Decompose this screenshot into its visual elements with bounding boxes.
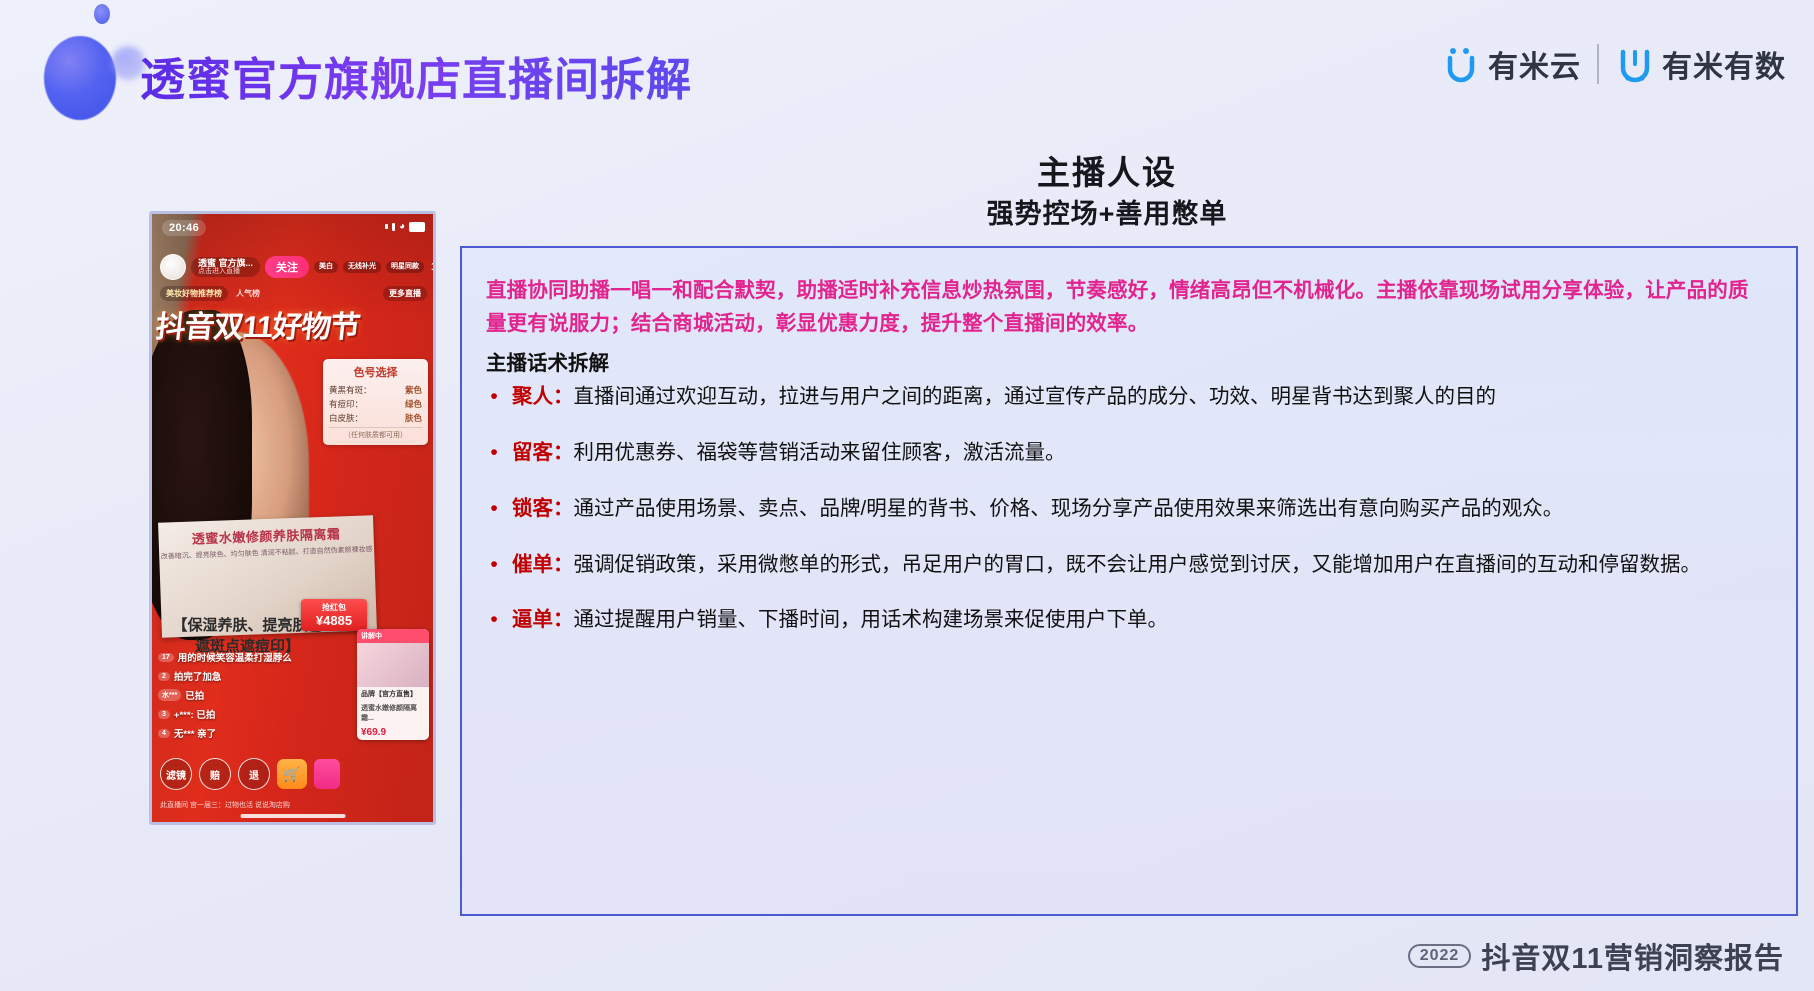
battery-icon <box>409 222 425 232</box>
brand-separator <box>1597 44 1599 84</box>
avatar[interactable] <box>160 254 186 280</box>
youmi-data-icon <box>1615 44 1655 84</box>
bullet-marker-icon: • <box>486 605 502 635</box>
rank-row: 美妆好物推荐榜 人气榜 更多直播 <box>160 286 427 301</box>
list-item: • 留客：利用优惠券、福袋等营销活动来留住顾客，激活流量。 <box>486 438 1766 469</box>
section-title: 主播人设 <box>0 146 1814 194</box>
color-card-label: 白皮肤： <box>329 412 363 424</box>
anchor-name: 透蜜 官方旗... <box>198 259 253 268</box>
brand-name-youmi-data: 有米有数 <box>1662 42 1786 86</box>
content-panel: 直播协同助播一唱一和配合默契，助播适时补充信息炒热氛围，节奏感好，情绪高昂但不机… <box>460 246 1798 916</box>
bullet-colon: ： <box>553 553 574 576</box>
coupon-label: 抢红包 <box>303 602 365 613</box>
brand-youmi-data: 有米有数 <box>1615 42 1786 86</box>
color-card-value: 紫色 <box>405 384 422 396</box>
footer-report-title: 抖音双11营销洞察报告 <box>1481 935 1784 977</box>
bullet-list: • 聚人：直播间通过欢迎互动，拉进与用户之间的距离，通过宣传产品的成分、功效、明… <box>486 382 1766 636</box>
anchor-subtitle: 点击进入直播 <box>198 268 253 275</box>
chat-tag: 水*** <box>158 689 181 701</box>
bullet-colon: ： <box>553 497 574 520</box>
stat-chip-2[interactable]: 明星同款 <box>386 261 424 272</box>
bullet-content: 聚人：直播间通过欢迎互动，拉进与用户之间的距离，通过宣传产品的成分、功效、明星背… <box>512 382 1496 413</box>
bullet-content: 逼单：通过提醒用户销量、下播时间，用话术构建场景来促使用户下单。 <box>512 605 1168 636</box>
chat-message: 4 无*** 亲了 <box>158 726 328 740</box>
bullet-keyword: 催单 <box>512 553 553 576</box>
youmi-cloud-icon <box>1441 44 1481 84</box>
list-item: • 催单：强调促销政策，采用微憋单的形式，吊足用户的胃口，既不会让用户感觉到讨厌… <box>486 550 1766 581</box>
product-card[interactable]: 讲解中 品牌【官方直售】 透蜜水嫩修颜隔离霜... ¥69.9 <box>357 629 429 740</box>
beauty-filter-button[interactable]: 滤镜 <box>160 758 192 790</box>
product-name: 透蜜水嫩修颜隔离霜... <box>357 701 429 725</box>
wifi-icon: ◕ <box>399 221 405 232</box>
live-bottom-bar: 滤镜 赔 退 🛒 <box>152 748 433 800</box>
stat-chip-1[interactable]: 无线补光 <box>343 261 381 272</box>
bullet-keyword: 留客 <box>512 441 553 464</box>
viewer-count: 120 <box>431 261 436 273</box>
bullet-content: 锁客：通过产品使用场景、卖点、品牌/明星的背书、价格、现场分享产品使用效果来筛选… <box>512 494 1563 525</box>
signal-icon <box>392 223 395 231</box>
coupon-badge[interactable]: 抢红包 ¥4885 <box>301 599 367 631</box>
decorative-blob-small <box>94 4 110 24</box>
bullet-text: 通过提醒用户销量、下播时间，用话术构建场景来促使用户下单。 <box>574 608 1169 631</box>
product-tag: 讲解中 <box>357 629 429 643</box>
bullet-keyword: 逼单 <box>512 608 553 631</box>
home-indicator <box>240 814 345 818</box>
compensation-button[interactable]: 赔 <box>199 758 231 790</box>
bullet-colon: ： <box>553 608 574 631</box>
chat-text: 用的时候笑容温柔打湿脖么 <box>178 650 292 664</box>
anchor-info[interactable]: 透蜜 官方旗... 点击进入直播 <box>191 257 260 278</box>
chat-tag: 17 <box>158 653 174 662</box>
product-brand: 品牌【官方直售】 <box>357 687 429 701</box>
footer-branding: 2022 抖音双11营销洞察报告 <box>1408 935 1784 977</box>
gift-button[interactable] <box>314 759 340 789</box>
poster-title: 透蜜水嫩修颜养肤隔离霜 <box>158 522 374 548</box>
more-live-button[interactable]: 更多直播 <box>383 286 427 301</box>
brand-youmi-cloud: 有米云 <box>1441 42 1581 86</box>
product-price: ¥69.9 <box>357 725 429 740</box>
chat-text: 已拍 <box>185 688 204 702</box>
bullet-keyword: 锁客 <box>512 497 553 520</box>
color-card-title: 色号选择 <box>329 364 422 380</box>
poster-lines: 改善暗沉、提亮肤色、均匀肤色 清润不粘腻、打造自然伪素颜裸妆感 <box>159 545 374 563</box>
popularity-badge[interactable]: 人气榜 <box>236 288 260 299</box>
intro-paragraph: 直播协同助播一唱一和配合默契，助播适时补充信息炒热氛围，节奏感好，情绪高昂但不机… <box>486 274 1766 340</box>
signal-icon <box>385 224 388 229</box>
status-icons: ◕ <box>385 221 425 232</box>
color-card-footnote: （任何肤质都可用） <box>329 427 422 440</box>
color-card-label: 有痘印： <box>329 398 363 410</box>
chat-message: 2 拍完了加急 <box>158 669 328 683</box>
stat-chip-0[interactable]: 美白 <box>314 261 338 272</box>
shopping-cart-icon[interactable]: 🛒 <box>277 759 307 789</box>
chat-message: 17 用的时候笑容温柔打湿脖么 <box>158 650 328 664</box>
footer-year: 2022 <box>1408 944 1472 968</box>
chat-text: 拍完了加急 <box>174 669 222 683</box>
bottom-note: 此直播间 官一届三：过物也活 说说淘店购 <box>160 800 290 810</box>
rank-badge[interactable]: 美妆好物推荐榜 <box>160 286 228 301</box>
chat-message: 3 +***: 已拍 <box>158 707 328 721</box>
color-card-label: 黄黑有斑： <box>329 384 372 396</box>
anchor-header-row: 透蜜 官方旗... 点击进入直播 关注 美白 无线补光 明星同款 120 ✕ <box>160 254 427 280</box>
chat-feed: 17 用的时候笑容温柔打湿脖么 2 拍完了加急 水*** 已拍 3 +***: … <box>158 645 328 740</box>
status-time: 20:46 <box>162 220 206 236</box>
bullet-marker-icon: • <box>486 550 502 580</box>
chat-message: 水*** 已拍 <box>158 688 328 702</box>
bullet-keyword: 聚人 <box>512 385 553 408</box>
chat-tag: 4 <box>158 729 170 738</box>
chat-text: +***: 已拍 <box>174 707 215 721</box>
bullet-text: 直播间通过欢迎互动，拉进与用户之间的距离，通过宣传产品的成分、功效、明星背书达到… <box>574 385 1497 408</box>
refund-button[interactable]: 退 <box>238 758 270 790</box>
follow-button[interactable]: 关注 <box>265 256 309 278</box>
bullet-marker-icon: • <box>486 438 502 468</box>
bullet-colon: ： <box>553 385 574 408</box>
bullet-colon: ： <box>553 441 574 464</box>
slide-root: 透蜜官方旗舰店直播间拆解 有米云 有米有数 主播人设 强势控场+善用憋单 <box>0 0 1814 991</box>
live-stream-screenshot: 20:46 ◕ 透蜜 官方旗... 点击进入直播 关注 美白 无线补光 明星同款… <box>149 211 436 825</box>
bullet-content: 留客：利用优惠券、福袋等营销活动来留住顾客，激活流量。 <box>512 438 1066 469</box>
bullet-text: 强调促销政策，采用微憋单的形式，吊足用户的胃口，既不会让用户感觉到讨厌，又能增加… <box>574 553 1702 576</box>
festival-banner: 抖音双11好物节 <box>154 302 436 346</box>
color-card-row: 黄黑有斑： 紫色 <box>329 384 422 396</box>
brand-name-youmi-cloud: 有米云 <box>1488 42 1581 86</box>
bullet-text: 利用优惠券、福袋等营销活动来留住顾客，激活流量。 <box>574 441 1066 464</box>
decorative-blob-large <box>44 36 116 120</box>
color-card-row: 白皮肤： 肤色 <box>329 412 422 424</box>
subsection-heading: 主播话术拆解 <box>486 346 1766 376</box>
bullet-text: 通过产品使用场景、卖点、品牌/明星的背书、价格、现场分享产品使用效果来筛选出有意… <box>574 497 1564 520</box>
color-card-row: 有痘印： 绿色 <box>329 398 422 410</box>
chat-text: 无*** 亲了 <box>174 726 216 740</box>
bullet-marker-icon: • <box>486 382 502 412</box>
chat-tag: 3 <box>158 710 170 719</box>
bullet-marker-icon: • <box>486 494 502 524</box>
list-item: • 逼单：通过提醒用户销量、下播时间，用话术构建场景来促使用户下单。 <box>486 605 1766 636</box>
coupon-value: ¥4885 <box>303 613 365 628</box>
chat-tag: 2 <box>158 672 170 681</box>
color-card-value: 肤色 <box>405 412 422 424</box>
bullet-content: 催单：强调促销政策，采用微憋单的形式，吊足用户的胃口，既不会让用户感觉到讨厌，又… <box>512 550 1701 581</box>
list-item: • 锁客：通过产品使用场景、卖点、品牌/明星的背书、价格、现场分享产品使用效果来… <box>486 494 1766 525</box>
color-selection-card: 色号选择 黄黑有斑： 紫色 有痘印： 绿色 白皮肤： 肤色 （任何肤质都可用） <box>323 359 428 445</box>
product-thumbnail <box>357 643 429 687</box>
brand-logo-group: 有米云 有米有数 <box>1441 42 1786 86</box>
page-title: 透蜜官方旗舰店直播间拆解 <box>140 43 692 108</box>
color-card-value: 绿色 <box>405 398 422 410</box>
list-item: • 聚人：直播间通过欢迎互动，拉进与用户之间的距离，通过宣传产品的成分、功效、明… <box>486 382 1766 413</box>
